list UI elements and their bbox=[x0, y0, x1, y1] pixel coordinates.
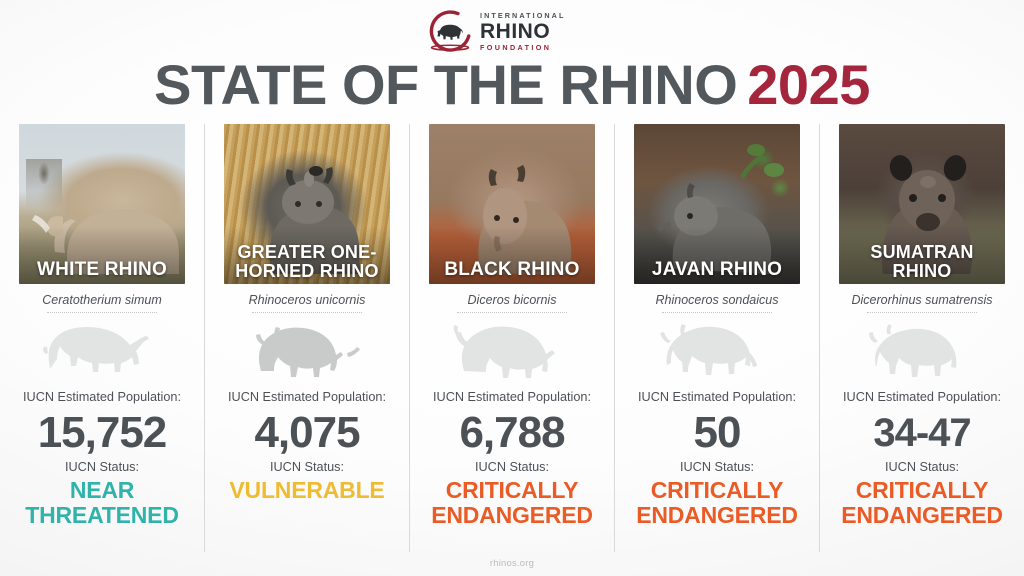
page-title-year: 2025 bbox=[747, 53, 870, 116]
javan-rhino-scientific-name: Rhinoceros sondaicus bbox=[656, 293, 779, 307]
status-label: IUCN Status: bbox=[65, 460, 139, 475]
population-label: IUCN Estimated Population: bbox=[843, 390, 1001, 405]
page-title: STATE OF THE RHINO2025 bbox=[0, 57, 1024, 113]
white-rhino-photo: WHITE RHINO bbox=[19, 124, 185, 284]
white-rhino-label: WHITE RHINO bbox=[19, 260, 185, 279]
divider-dotted bbox=[47, 312, 157, 313]
status-label: IUCN Status: bbox=[270, 460, 344, 475]
page-title-main: STATE OF THE RHINO bbox=[154, 53, 737, 116]
infographic-page: INTERNATIONAL RHINO FOUNDATION STATE OF … bbox=[0, 0, 1024, 576]
javan-rhino-silhouette-icon bbox=[641, 319, 793, 381]
white-rhino-population-value: 15,752 bbox=[38, 408, 167, 458]
logo-line-foundation: FOUNDATION bbox=[480, 44, 565, 51]
international-rhino-foundation-logo: INTERNATIONAL RHINO FOUNDATION bbox=[427, 7, 597, 55]
divider-dotted bbox=[867, 312, 977, 313]
javan-rhino-population-value: 50 bbox=[694, 408, 741, 458]
sumatran-rhino-silhouette-icon bbox=[846, 319, 998, 381]
sumatran-rhino-photo: SUMATRAN RHINO bbox=[839, 124, 1005, 284]
population-label: IUCN Estimated Population: bbox=[23, 390, 181, 405]
greater-one-horned-rhino-silhouette-icon bbox=[231, 319, 383, 381]
status-label: IUCN Status: bbox=[680, 460, 754, 475]
divider-dotted bbox=[457, 312, 567, 313]
greater-one-horned-rhino-population-value: 4,075 bbox=[254, 408, 359, 458]
logo-wordmark: INTERNATIONAL RHINO FOUNDATION bbox=[480, 11, 565, 50]
footer-website[interactable]: rhinos.org bbox=[0, 558, 1024, 569]
black-rhino-silhouette-icon bbox=[436, 319, 588, 381]
black-rhino-scientific-name: Diceros bicornis bbox=[468, 293, 557, 307]
status-label: IUCN Status: bbox=[475, 460, 549, 475]
species-columns: WHITE RHINO Ceratotherium simum IUCN Est… bbox=[0, 124, 1024, 552]
species-column-black-rhino: BLACK RHINO Diceros bicornis IUCN Estima… bbox=[409, 124, 614, 552]
divider-dotted bbox=[252, 312, 362, 313]
species-column-white-rhino: WHITE RHINO Ceratotherium simum IUCN Est… bbox=[0, 124, 204, 552]
black-rhino-status-badge: CRITICALLY ENDANGERED bbox=[431, 478, 593, 528]
population-label: IUCN Estimated Population: bbox=[433, 390, 591, 405]
white-rhino-status-badge: NEAR THREATENED bbox=[25, 478, 178, 528]
white-rhino-silhouette-icon bbox=[26, 319, 178, 381]
black-rhino-photo: BLACK RHINO bbox=[429, 124, 595, 284]
javan-rhino-status-badge: CRITICALLY ENDANGERED bbox=[636, 478, 798, 528]
javan-rhino-label: JAVAN RHINO bbox=[634, 260, 800, 279]
sumatran-rhino-population-value: 34-47 bbox=[873, 408, 970, 458]
species-column-greater-one-horned-rhino: GREATER ONE- HORNED RHINO Rhinoceros uni… bbox=[204, 124, 409, 552]
species-column-sumatran-rhino: SUMATRAN RHINO Dicerorhinus sumatrensis … bbox=[819, 124, 1024, 552]
population-label: IUCN Estimated Population: bbox=[638, 390, 796, 405]
sumatran-rhino-status-badge: CRITICALLY ENDANGERED bbox=[841, 478, 1003, 528]
logo-line-international: INTERNATIONAL bbox=[480, 12, 565, 19]
population-label: IUCN Estimated Population: bbox=[228, 390, 386, 405]
greater-one-horned-rhino-scientific-name: Rhinoceros unicornis bbox=[249, 293, 366, 307]
sumatran-rhino-label: SUMATRAN RHINO bbox=[839, 243, 1005, 280]
rhino-in-circle-logo-icon bbox=[427, 8, 473, 54]
divider-dotted bbox=[662, 312, 772, 313]
greater-one-horned-rhino-label: GREATER ONE- HORNED RHINO bbox=[224, 243, 390, 280]
logo-line-rhino: RHINO bbox=[480, 21, 565, 42]
sumatran-rhino-scientific-name: Dicerorhinus sumatrensis bbox=[851, 293, 992, 307]
javan-rhino-photo: JAVAN RHINO bbox=[634, 124, 800, 284]
black-rhino-label: BLACK RHINO bbox=[429, 260, 595, 279]
status-label: IUCN Status: bbox=[885, 460, 959, 475]
species-column-javan-rhino: JAVAN RHINO Rhinoceros sondaicus IUCN Es… bbox=[614, 124, 819, 552]
greater-one-horned-rhino-status-badge: VULNERABLE bbox=[229, 478, 384, 503]
black-rhino-population-value: 6,788 bbox=[459, 408, 564, 458]
greater-one-horned-rhino-photo: GREATER ONE- HORNED RHINO bbox=[224, 124, 390, 284]
header: INTERNATIONAL RHINO FOUNDATION STATE OF … bbox=[0, 0, 1024, 118]
white-rhino-scientific-name: Ceratotherium simum bbox=[42, 293, 161, 307]
